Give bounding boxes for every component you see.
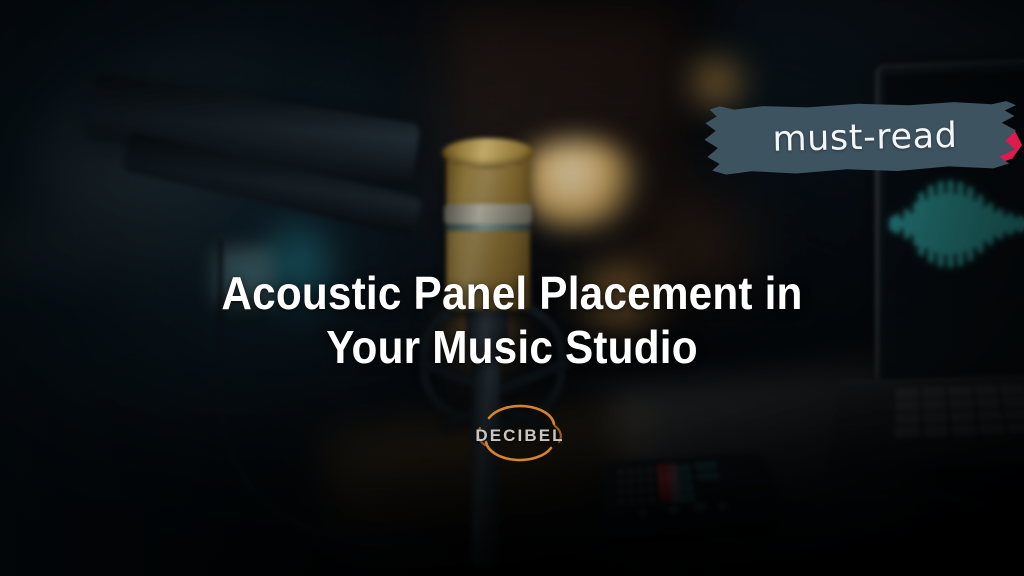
decibel-logo[interactable]: DECIBEL — [455, 398, 585, 474]
mixer-knob — [667, 504, 682, 515]
keyboard-key — [895, 388, 918, 399]
logo-wordmark: DECIBEL — [455, 398, 585, 474]
mixer-button — [617, 469, 624, 475]
mixer-knob — [716, 502, 730, 512]
mixer-pad — [697, 472, 720, 481]
mixer-button — [618, 498, 625, 505]
mixer-pad — [670, 474, 692, 483]
mixer-pad — [671, 483, 694, 492]
keyboard-key — [1002, 396, 1024, 407]
laptop-base — [826, 375, 1024, 471]
keyboard-key — [950, 410, 975, 422]
keyboard-key — [922, 387, 946, 398]
mixer-button — [637, 487, 644, 494]
mixer-pad — [672, 493, 695, 503]
keyboard-key — [1007, 422, 1024, 434]
microphone-ring-lower — [445, 224, 531, 231]
keyboard-key — [951, 424, 977, 436]
mixer-button — [646, 467, 653, 473]
keyboard-key — [895, 400, 919, 411]
mixer-button — [627, 478, 634, 485]
keyboard-key — [999, 384, 1024, 395]
keyboard-key — [895, 412, 920, 424]
keyboard-key — [949, 398, 974, 409]
mixer-pad — [695, 461, 717, 470]
page-title: Acoustic Panel Placement in Your Music S… — [41, 266, 983, 374]
mixer-knob — [639, 510, 649, 518]
microphone-cap — [442, 138, 534, 168]
keyboard-key — [922, 399, 946, 410]
mixer-button — [638, 497, 646, 504]
laptop-keyboard — [894, 383, 1024, 438]
mixer-button — [628, 487, 635, 494]
mixer-button — [637, 477, 644, 484]
mixer-button — [627, 468, 634, 474]
mixer-button — [628, 497, 635, 504]
mixer-button — [618, 488, 625, 495]
mixer-pad — [669, 464, 691, 473]
keyboard-key — [974, 385, 999, 396]
audio-mixer — [603, 452, 782, 540]
keyboard-key — [1004, 409, 1024, 421]
keyboard-key — [894, 426, 919, 439]
microphone-ring — [444, 204, 532, 224]
mixer-button — [617, 478, 624, 485]
mixer-button — [636, 468, 643, 474]
must-read-badge[interactable]: must-read — [700, 102, 1024, 178]
keyboard-key — [922, 411, 947, 423]
keyboard-key — [948, 386, 972, 397]
mixer-button — [647, 486, 654, 493]
mixer-button — [647, 476, 654, 483]
mixer-button — [648, 496, 656, 503]
badge-label: must-read — [699, 99, 1018, 178]
mixer-knob — [692, 501, 710, 514]
keyboard-key — [977, 410, 1003, 422]
hero-banner: must-read Acoustic Panel Placement in Yo… — [0, 0, 1024, 576]
keyboard-key — [975, 397, 1000, 408]
keyboard-key — [979, 423, 1006, 435]
keyboard-key — [923, 425, 949, 438]
